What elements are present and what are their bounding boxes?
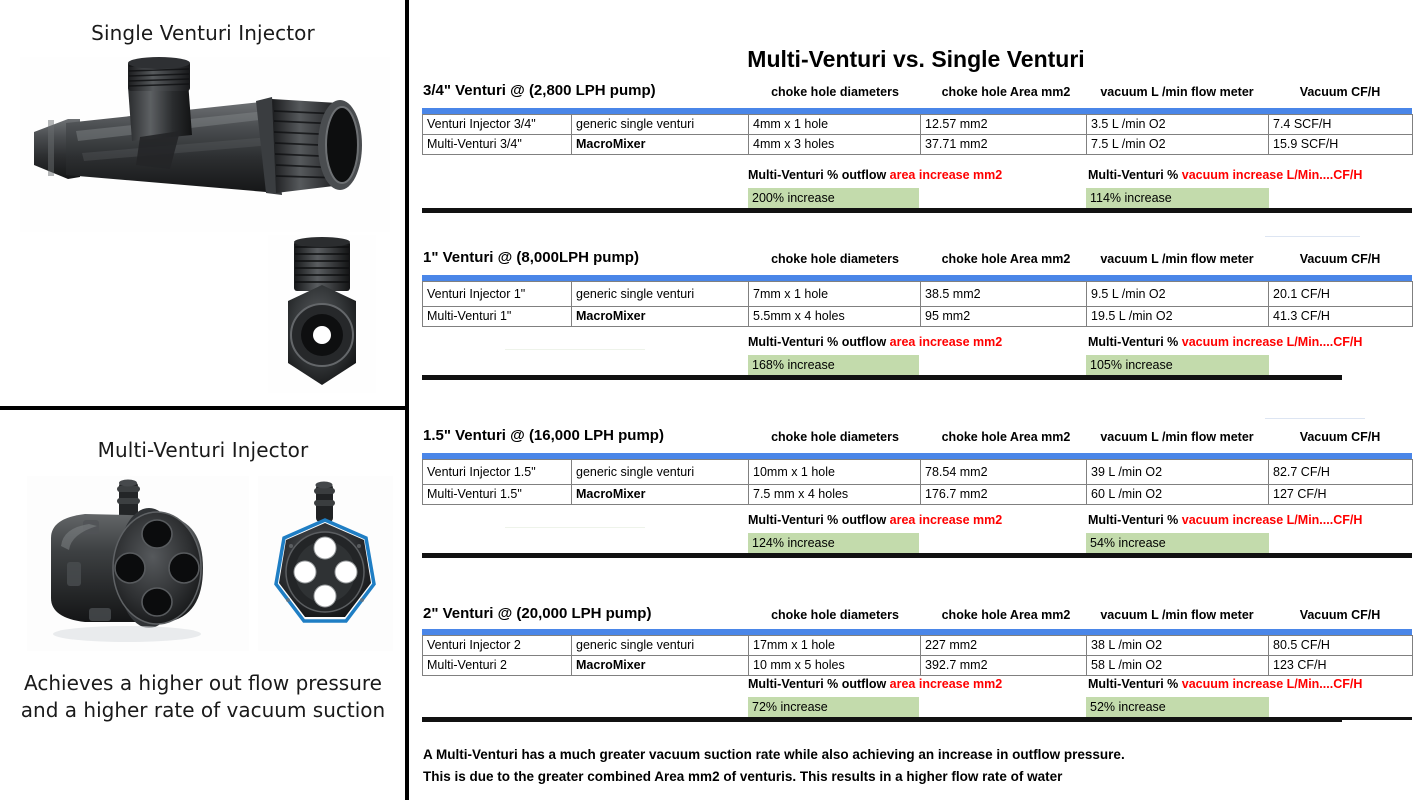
section-header-row: 1" Venturi @ (8,000LPH pump) choke hole … bbox=[410, 249, 1422, 275]
cell-vacuum-lmin: 19.5 L /min O2 bbox=[1087, 307, 1269, 327]
summary-vacuum-red: vacuum increase L/Min....CF/H bbox=[1182, 513, 1363, 527]
comparison-table: Venturi Injector 1.5" generic single ven… bbox=[422, 459, 1413, 505]
table-row: Multi-Venturi 2 MacroMixer 10 mm x 5 hol… bbox=[423, 656, 1413, 676]
outflow-increase-value: 72% increase bbox=[748, 697, 919, 719]
comparison-tables-panel: Multi-Venturi vs. Single Venturi 3/4" Ve… bbox=[410, 0, 1422, 800]
cell-product: generic single venturi bbox=[572, 636, 749, 656]
summary-outflow-red: area increase mm2 bbox=[890, 513, 1003, 527]
column-header-choke-area: choke hole Area mm2 bbox=[922, 608, 1090, 622]
comparison-table: Venturi Injector 1" generic single ventu… bbox=[422, 281, 1413, 327]
cell-choke-diameter: 4mm x 3 holes bbox=[749, 135, 921, 155]
cell-row-name: Multi-Venturi 1.5" bbox=[423, 485, 572, 505]
column-header-choke-area: choke hole Area mm2 bbox=[922, 252, 1090, 266]
ghost-artifact-top bbox=[1265, 236, 1360, 237]
section-bottom-rule bbox=[422, 375, 1342, 380]
cell-vacuum-lmin: 58 L /min O2 bbox=[1087, 656, 1269, 676]
section-one-inch: 1" Venturi @ (8,000LPH pump) choke hole … bbox=[410, 249, 1422, 275]
cell-vacuum-cfh: 123 CF/H bbox=[1269, 656, 1413, 676]
multi-venturi-title: Multi-Venturi Injector bbox=[0, 410, 406, 462]
cell-vacuum-lmin: 9.5 L /min O2 bbox=[1087, 282, 1269, 307]
cell-vacuum-lmin: 60 L /min O2 bbox=[1087, 485, 1269, 505]
table-row: Venturi Injector 3/4" generic single ven… bbox=[423, 115, 1413, 135]
cell-product: generic single venturi bbox=[572, 115, 749, 135]
column-header-vacuum-cfh: Vacuum CF/H bbox=[1268, 85, 1412, 99]
summary-outflow-red: area increase mm2 bbox=[890, 168, 1003, 182]
cell-choke-area: 176.7 mm2 bbox=[921, 485, 1087, 505]
cell-product: generic single venturi bbox=[572, 460, 749, 485]
footer-text-line-1: A Multi-Venturi has a much greater vacuu… bbox=[423, 747, 1125, 762]
table-row: Venturi Injector 1.5" generic single ven… bbox=[423, 460, 1413, 485]
summary-vacuum-prefix: Multi-Venturi % bbox=[1088, 513, 1182, 527]
cell-choke-diameter: 10 mm x 5 holes bbox=[749, 656, 921, 676]
table-row: Multi-Venturi 1" MacroMixer 5.5mm x 4 ho… bbox=[423, 307, 1413, 327]
cell-choke-area: 38.5 mm2 bbox=[921, 282, 1087, 307]
cell-choke-area: 227 mm2 bbox=[921, 636, 1087, 656]
cell-vacuum-cfh: 82.7 CF/H bbox=[1269, 460, 1413, 485]
cell-row-name: Multi-Venturi 3/4" bbox=[423, 135, 572, 155]
cell-choke-area: 95 mm2 bbox=[921, 307, 1087, 327]
section-header-row: 2" Venturi @ (20,000 LPH pump) choke hol… bbox=[410, 605, 1422, 631]
cell-choke-area: 392.7 mm2 bbox=[921, 656, 1087, 676]
table-row: Venturi Injector 1" generic single ventu… bbox=[423, 282, 1413, 307]
cell-vacuum-cfh: 15.9 SCF/H bbox=[1269, 135, 1413, 155]
slide-root: Single Venturi Injector bbox=[0, 0, 1422, 800]
section-title: 3/4" Venturi @ (2,800 LPH pump) bbox=[423, 82, 656, 99]
page-title: Multi-Venturi vs. Single Venturi bbox=[410, 46, 1422, 73]
summary-label-row: Multi-Venturi % outflow area increase mm… bbox=[410, 335, 1422, 357]
vacuum-increase-value: 114% increase bbox=[1086, 188, 1269, 210]
column-header-vacuum-lmin: vacuum L /min flow meter bbox=[1086, 608, 1268, 622]
section-title: 2" Venturi @ (20,000 LPH pump) bbox=[423, 605, 651, 622]
ghost-artifact-top bbox=[1265, 418, 1365, 419]
cell-vacuum-cfh: 20.1 CF/H bbox=[1269, 282, 1413, 307]
cell-vacuum-cfh: 80.5 CF/H bbox=[1269, 636, 1413, 656]
section-bottom-rule bbox=[422, 208, 1412, 213]
column-header-choke-diameter: choke hole diameters bbox=[750, 252, 920, 266]
cell-product: MacroMixer bbox=[572, 135, 749, 155]
summary-label-vacuum: Multi-Venturi % vacuum increase L/Min...… bbox=[1088, 513, 1362, 527]
summary-vacuum-red: vacuum increase L/Min....CF/H bbox=[1182, 168, 1363, 182]
summary-outflow-prefix: Multi-Venturi % outflow bbox=[748, 335, 890, 349]
summary-label-outflow: Multi-Venturi % outflow area increase mm… bbox=[748, 168, 1002, 182]
cell-choke-diameter: 17mm x 1 hole bbox=[749, 636, 921, 656]
column-header-vacuum-cfh: Vacuum CF/H bbox=[1268, 608, 1412, 622]
cell-choke-diameter: 10mm x 1 hole bbox=[749, 460, 921, 485]
cell-row-name: Multi-Venturi 2 bbox=[423, 656, 572, 676]
section-title: 1.5" Venturi @ (16,000 LPH pump) bbox=[423, 427, 664, 444]
summary-vacuum-prefix: Multi-Venturi % bbox=[1088, 168, 1182, 182]
panel-vertical-divider bbox=[405, 0, 409, 800]
column-header-vacuum-lmin: vacuum L /min flow meter bbox=[1086, 85, 1268, 99]
caption-line-1: Achieves a higher out flow pressure bbox=[12, 670, 394, 697]
summary-outflow-red: area increase mm2 bbox=[890, 335, 1003, 349]
summary-label-vacuum: Multi-Venturi % vacuum increase L/Min...… bbox=[1088, 168, 1362, 182]
ghost-artifact-left bbox=[505, 349, 645, 350]
caption-line-2: and a higher rate of vacuum suction bbox=[12, 697, 394, 724]
column-header-vacuum-cfh: Vacuum CF/H bbox=[1268, 430, 1412, 444]
cell-row-name: Venturi Injector 1" bbox=[423, 282, 572, 307]
table-row: Multi-Venturi 1.5" MacroMixer 7.5 mm x 4… bbox=[423, 485, 1413, 505]
column-header-choke-diameter: choke hole diameters bbox=[750, 430, 920, 444]
section-bottom-rule bbox=[422, 553, 1412, 558]
summary-label-row: Multi-Venturi % outflow area increase mm… bbox=[410, 677, 1422, 699]
summary-label-vacuum: Multi-Venturi % vacuum increase L/Min...… bbox=[1088, 335, 1362, 349]
summary-label-row: Multi-Venturi % outflow area increase mm… bbox=[410, 513, 1422, 535]
cell-choke-diameter: 5.5mm x 4 holes bbox=[749, 307, 921, 327]
summary-outflow-prefix: Multi-Venturi % outflow bbox=[748, 513, 890, 527]
comparison-table: Venturi Injector 2 generic single ventur… bbox=[422, 635, 1413, 676]
cell-product: MacroMixer bbox=[572, 485, 749, 505]
section-title: 1" Venturi @ (8,000LPH pump) bbox=[423, 249, 639, 266]
summary-vacuum-prefix: Multi-Venturi % bbox=[1088, 335, 1182, 349]
vacuum-increase-value: 105% increase bbox=[1086, 355, 1269, 377]
section-bottom-rule-tail bbox=[1340, 717, 1412, 720]
outflow-increase-value: 168% increase bbox=[748, 355, 919, 377]
comparison-table: Venturi Injector 3/4" generic single ven… bbox=[422, 114, 1413, 155]
cell-vacuum-lmin: 39 L /min O2 bbox=[1087, 460, 1269, 485]
summary-outflow-prefix: Multi-Venturi % outflow bbox=[748, 168, 890, 182]
cell-row-name: Venturi Injector 2 bbox=[423, 636, 572, 656]
summary-vacuum-prefix: Multi-Venturi % bbox=[1088, 677, 1182, 691]
summary-label-vacuum: Multi-Venturi % vacuum increase L/Min...… bbox=[1088, 677, 1362, 691]
column-header-choke-diameter: choke hole diameters bbox=[750, 608, 920, 622]
section-three-quarter-inch: 3/4" Venturi @ (2,800 LPH pump) choke ho… bbox=[410, 82, 1422, 108]
cell-choke-diameter: 7.5 mm x 4 holes bbox=[749, 485, 921, 505]
summary-vacuum-red: vacuum increase L/Min....CF/H bbox=[1182, 677, 1363, 691]
multi-venturi-injector-body-image bbox=[27, 476, 249, 651]
section-header-row: 3/4" Venturi @ (2,800 LPH pump) choke ho… bbox=[410, 82, 1422, 108]
vacuum-increase-value: 54% increase bbox=[1086, 533, 1269, 555]
cell-vacuum-cfh: 7.4 SCF/H bbox=[1269, 115, 1413, 135]
multi-venturi-choke-face-image bbox=[258, 476, 393, 651]
summary-label-outflow: Multi-Venturi % outflow area increase mm… bbox=[748, 335, 1002, 349]
cell-vacuum-cfh: 127 CF/H bbox=[1269, 485, 1413, 505]
cell-choke-area: 37.71 mm2 bbox=[921, 135, 1087, 155]
cell-choke-diameter: 7mm x 1 hole bbox=[749, 282, 921, 307]
single-venturi-card: Single Venturi Injector bbox=[0, 0, 406, 406]
ghost-artifact-left bbox=[505, 527, 645, 528]
outflow-increase-value: 200% increase bbox=[748, 188, 919, 210]
footer-text-line-2: This is due to the greater combined Area… bbox=[423, 769, 1062, 784]
summary-outflow-red: area increase mm2 bbox=[890, 677, 1003, 691]
section-two-inch: 2" Venturi @ (20,000 LPH pump) choke hol… bbox=[410, 605, 1422, 631]
cell-choke-diameter: 4mm x 1 hole bbox=[749, 115, 921, 135]
multi-venturi-caption: Achieves a higher out flow pressure and … bbox=[0, 670, 406, 724]
cell-row-name: Venturi Injector 3/4" bbox=[423, 115, 572, 135]
cell-product: MacroMixer bbox=[572, 656, 749, 676]
cell-row-name: Venturi Injector 1.5" bbox=[423, 460, 572, 485]
table-row: Multi-Venturi 3/4" MacroMixer 4mm x 3 ho… bbox=[423, 135, 1413, 155]
column-header-vacuum-lmin: vacuum L /min flow meter bbox=[1086, 252, 1268, 266]
column-header-vacuum-cfh: Vacuum CF/H bbox=[1268, 252, 1412, 266]
table-row: Venturi Injector 2 generic single ventur… bbox=[423, 636, 1413, 656]
single-venturi-injector-body-image bbox=[20, 57, 390, 232]
column-header-vacuum-lmin: vacuum L /min flow meter bbox=[1086, 430, 1268, 444]
section-bottom-rule bbox=[422, 717, 1342, 722]
column-header-choke-area: choke hole Area mm2 bbox=[922, 85, 1090, 99]
section-header-row: 1.5" Venturi @ (16,000 LPH pump) choke h… bbox=[410, 427, 1422, 453]
single-venturi-title: Single Venturi Injector bbox=[0, 0, 406, 45]
cell-vacuum-lmin: 7.5 L /min O2 bbox=[1087, 135, 1269, 155]
left-illustration-panel: Single Venturi Injector bbox=[0, 0, 408, 800]
column-header-choke-diameter: choke hole diameters bbox=[750, 85, 920, 99]
summary-label-row: Multi-Venturi % outflow area increase mm… bbox=[410, 168, 1422, 190]
multi-venturi-card: Multi-Venturi Injector bbox=[0, 410, 406, 800]
cell-choke-area: 12.57 mm2 bbox=[921, 115, 1087, 135]
summary-vacuum-red: vacuum increase L/Min....CF/H bbox=[1182, 335, 1363, 349]
single-venturi-choke-face-image bbox=[268, 235, 376, 393]
section-one-and-half-inch: 1.5" Venturi @ (16,000 LPH pump) choke h… bbox=[410, 427, 1422, 453]
cell-vacuum-lmin: 38 L /min O2 bbox=[1087, 636, 1269, 656]
outflow-increase-value: 124% increase bbox=[748, 533, 919, 555]
cell-vacuum-lmin: 3.5 L /min O2 bbox=[1087, 115, 1269, 135]
cell-product: generic single venturi bbox=[572, 282, 749, 307]
vacuum-increase-value: 52% increase bbox=[1086, 697, 1269, 719]
cell-vacuum-cfh: 41.3 CF/H bbox=[1269, 307, 1413, 327]
summary-label-outflow: Multi-Venturi % outflow area increase mm… bbox=[748, 513, 1002, 527]
summary-outflow-prefix: Multi-Venturi % outflow bbox=[748, 677, 890, 691]
cell-product: MacroMixer bbox=[572, 307, 749, 327]
cell-choke-area: 78.54 mm2 bbox=[921, 460, 1087, 485]
summary-label-outflow: Multi-Venturi % outflow area increase mm… bbox=[748, 677, 1002, 691]
cell-row-name: Multi-Venturi 1" bbox=[423, 307, 572, 327]
column-header-choke-area: choke hole Area mm2 bbox=[922, 430, 1090, 444]
